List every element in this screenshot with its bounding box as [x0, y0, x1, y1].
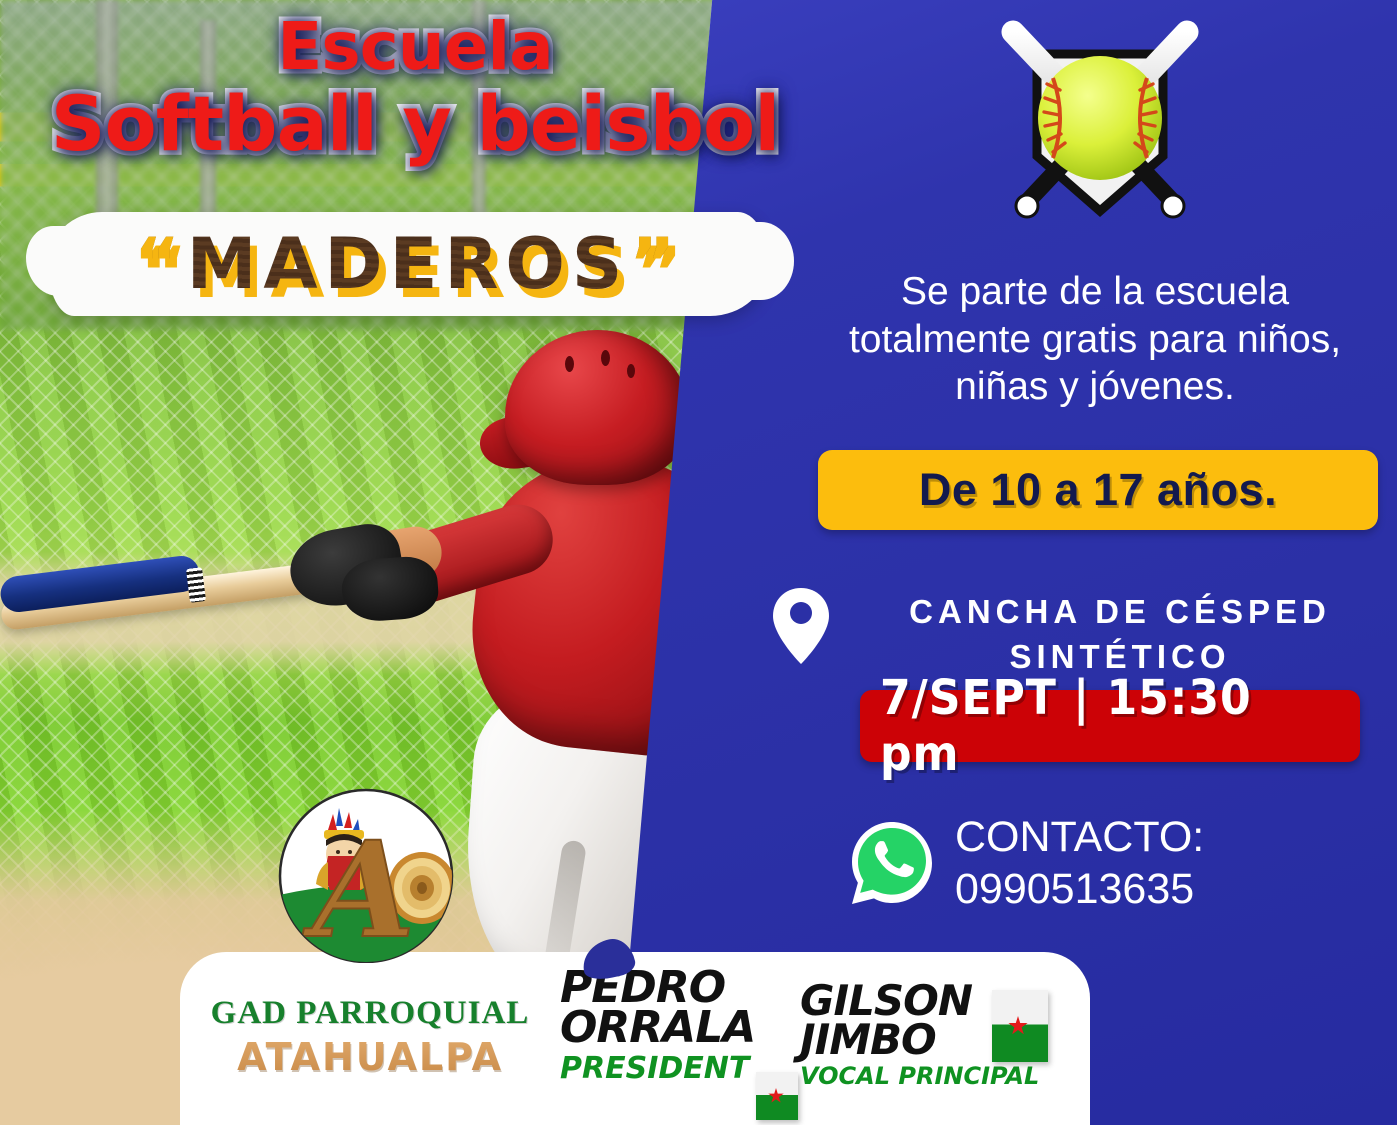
school-name-text: MADEROS — [187, 223, 630, 305]
gad-line-2: ATAHUALPA — [205, 1035, 535, 1079]
map-pin-icon — [770, 586, 832, 666]
pedro-last-name: ORRALA — [560, 1008, 755, 1048]
whatsapp-icon[interactable] — [848, 818, 936, 906]
contact-phone[interactable]: 0990513635 — [955, 864, 1375, 916]
open-quote: “ — [134, 223, 187, 305]
lead-description: Se parte de la escuela totalmente gratis… — [845, 268, 1345, 411]
location-text: CANCHA DE CÉSPED SINTÉTICO — [850, 590, 1390, 679]
crossed-bats-softball-home-plate-icon — [975, 6, 1225, 256]
school-name: “MADEROS” — [48, 216, 768, 312]
close-quote: ” — [629, 223, 682, 305]
gad-line-1: GAD PARROQUIAL — [205, 995, 535, 1032]
date-time-text: 7/SEPT | 15:30 pm — [880, 670, 1340, 782]
gilson-role: VOCAL PRINCIPAL — [800, 1062, 1039, 1090]
location-line-1: CANCHA DE CÉSPED — [850, 590, 1390, 635]
svg-text:A: A — [302, 813, 415, 963]
contact-block: CONTACTO: 0990513635 — [955, 812, 1375, 915]
contact-label: CONTACTO: — [955, 812, 1375, 864]
title-block: Escuela Softball y beisbol — [0, 14, 830, 162]
sponsor-gilson-jimbo: GILSON JIMBO VOCAL PRINCIPAL — [800, 982, 1039, 1090]
date-time-badge: 7/SEPT | 15:30 pm — [860, 690, 1360, 762]
party-flag-icon — [992, 990, 1048, 1062]
title-line-2: Softball y beisbol — [0, 86, 830, 162]
age-range-badge: De 10 a 17 años. — [818, 450, 1378, 530]
age-range-text: De 10 a 17 años. — [919, 464, 1277, 516]
gad-atahualpa-circular-logo: A — [264, 788, 469, 963]
poster-root: Escuela Softball y beisbol “MADEROS” — [0, 0, 1397, 1125]
player-helmet — [505, 330, 690, 485]
batting-glove-icon — [340, 555, 440, 624]
party-flag-icon — [756, 1072, 798, 1120]
title-line-1: Escuela — [0, 14, 830, 80]
sponsor-pedro-orrala: PEDRO ORRALA PRESIDENT — [560, 968, 755, 1086]
gad-atahualpa-wordmark: GAD PARROQUIAL ATAHUALPA — [205, 995, 535, 1079]
pedro-role: PRESIDENT — [560, 1051, 755, 1086]
